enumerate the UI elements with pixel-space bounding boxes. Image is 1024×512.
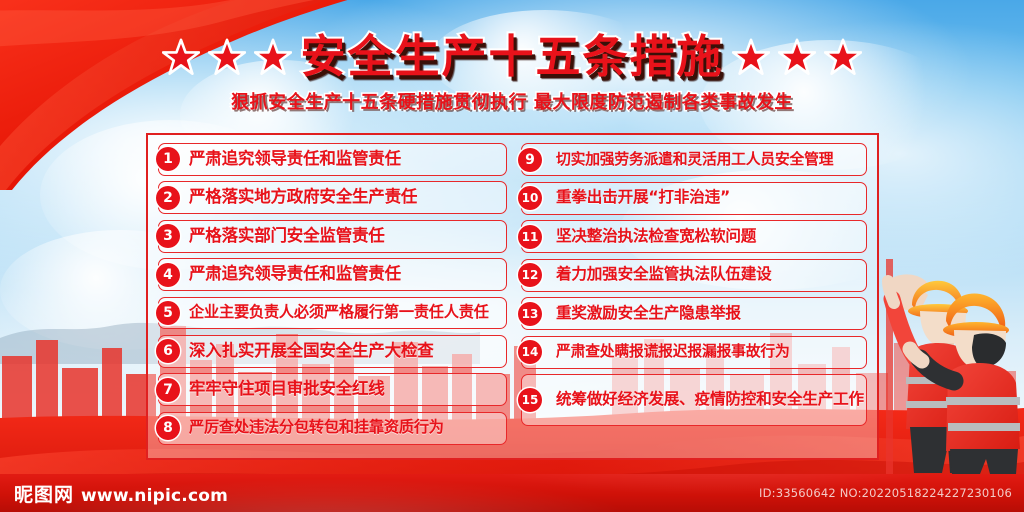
list-item-label: 重奖激励安全生产隐患举报 (556, 305, 741, 323)
item-number-badge: 12 (518, 263, 542, 287)
item-number-badge: 15 (518, 388, 542, 412)
item-number-badge: 7 (156, 378, 180, 402)
site-watermark[interactable]: 昵图网 www.nipic.com (14, 480, 228, 507)
list-item[interactable]: 14严肃查处瞒报谎报迟报漏报事故行为 (521, 336, 867, 369)
list-item[interactable]: 4严肃追究领导责任和监管责任 (158, 258, 507, 291)
list-item[interactable]: 8严厉查处违法分包转包和挂靠资质行为 (158, 412, 507, 445)
item-number-badge: 6 (156, 339, 180, 363)
item-number-badge: 3 (156, 224, 180, 248)
star-icon (824, 38, 862, 76)
star-icon (732, 38, 770, 76)
list-item[interactable]: 10重拳出击开展“打非治违” (521, 182, 867, 215)
poster-header: 安全生产十五条措施 狠抓安全生产十五条硬措施贯彻执行 最大限度防范遏制各类事故发… (0, 28, 1024, 114)
list-item[interactable]: 12着力加强安全监管执法队伍建设 (521, 259, 867, 292)
poster-canvas: 安全生产十五条措施 狠抓安全生产十五条硬措施贯彻执行 最大限度防范遏制各类事故发… (0, 0, 1024, 512)
page-subtitle: 狠抓安全生产十五条硬措施贯彻执行 最大限度防范遏制各类事故发生 (231, 88, 793, 114)
list-item-label: 严厉查处违法分包转包和挂靠资质行为 (189, 419, 444, 436)
item-number-badge: 9 (518, 148, 542, 172)
item-number-badge: 4 (156, 263, 180, 287)
measures-panel: 1严肃追究领导责任和监管责任 2严格落实地方政府安全生产责任 3严格落实部门安全… (146, 133, 879, 460)
footer-bar: 昵图网 www.nipic.com ID:33560642 NO:2022051… (0, 474, 1024, 512)
list-item-label: 严肃查处瞒报谎报迟报漏报事故行为 (556, 343, 790, 360)
list-item[interactable]: 5企业主要负责人必须严格履行第一责任人责任 (158, 297, 507, 330)
list-item[interactable]: 13重奖激励安全生产隐患举报 (521, 297, 867, 330)
list-item-label: 统筹做好经济发展、疫情防控和安全生产工作 (556, 390, 864, 409)
star-icon (162, 38, 200, 76)
list-item[interactable]: 1严肃追究领导责任和监管责任 (158, 143, 507, 176)
asset-id-label: ID:33560642 NO:20220518224227230106 (759, 486, 1012, 500)
item-number-badge: 2 (156, 186, 180, 210)
subtitle-row: 狠抓安全生产十五条硬措施贯彻执行 最大限度防范遏制各类事故发生 (0, 88, 1024, 114)
list-item-label: 坚决整治执法检查宽松软问题 (556, 228, 756, 246)
item-number-badge: 11 (518, 225, 542, 249)
brand-name-cn: 昵图网 (14, 480, 74, 507)
item-number-badge: 13 (518, 302, 542, 326)
list-item[interactable]: 2严格落实地方政府安全生产责任 (158, 181, 507, 214)
list-item[interactable]: 15统筹做好经济发展、疫情防控和安全生产工作 (521, 374, 867, 426)
list-item-label: 牢牢守住项目审批安全红线 (189, 380, 385, 399)
list-item[interactable]: 3严格落实部门安全监管责任 (158, 220, 507, 253)
list-item-label: 严格落实地方政府安全生产责任 (189, 188, 417, 207)
measures-column-left: 1严肃追究领导责任和监管责任 2严格落实地方政府安全生产责任 3严格落实部门安全… (158, 143, 507, 450)
list-item-label: 深入扎实开展全国安全生产大检查 (189, 342, 434, 361)
list-item-label: 严格落实部门安全监管责任 (189, 227, 385, 246)
measures-column-right: 9切实加强劳务派遣和灵活用工人员安全管理 10重拳出击开展“打非治违” 11坚决… (521, 143, 867, 450)
list-item-label: 重拳出击开展“打非治违” (556, 189, 730, 207)
construction-workers-illustration (850, 259, 1020, 474)
list-item[interactable]: 6深入扎实开展全国安全生产大检查 (158, 335, 507, 368)
item-number-badge: 14 (518, 340, 542, 364)
list-item[interactable]: 11坚决整治执法检查宽松软问题 (521, 220, 867, 253)
list-item-label: 严肃追究领导责任和监管责任 (189, 265, 401, 284)
star-icon (254, 38, 292, 76)
list-item-label: 着力加强安全监管执法队伍建设 (556, 266, 772, 284)
list-item[interactable]: 9切实加强劳务派遣和灵活用工人员安全管理 (521, 143, 867, 176)
title-row: 安全生产十五条措施 (0, 28, 1024, 86)
list-item[interactable]: 7牢牢守住项目审批安全红线 (158, 373, 507, 406)
star-icon (778, 38, 816, 76)
item-number-badge: 8 (156, 416, 180, 440)
list-item-label: 切实加强劳务派遣和灵活用工人员安全管理 (556, 151, 833, 168)
page-title: 安全生产十五条措施 (300, 28, 723, 86)
item-number-badge: 5 (156, 301, 180, 325)
item-number-badge: 1 (156, 147, 180, 171)
star-icon (208, 38, 246, 76)
list-item-label: 企业主要负责人必须严格履行第一责任人责任 (189, 304, 489, 321)
brand-url: www.nipic.com (81, 486, 228, 506)
item-number-badge: 10 (518, 186, 542, 210)
list-item-label: 严肃追究领导责任和监管责任 (189, 150, 401, 169)
